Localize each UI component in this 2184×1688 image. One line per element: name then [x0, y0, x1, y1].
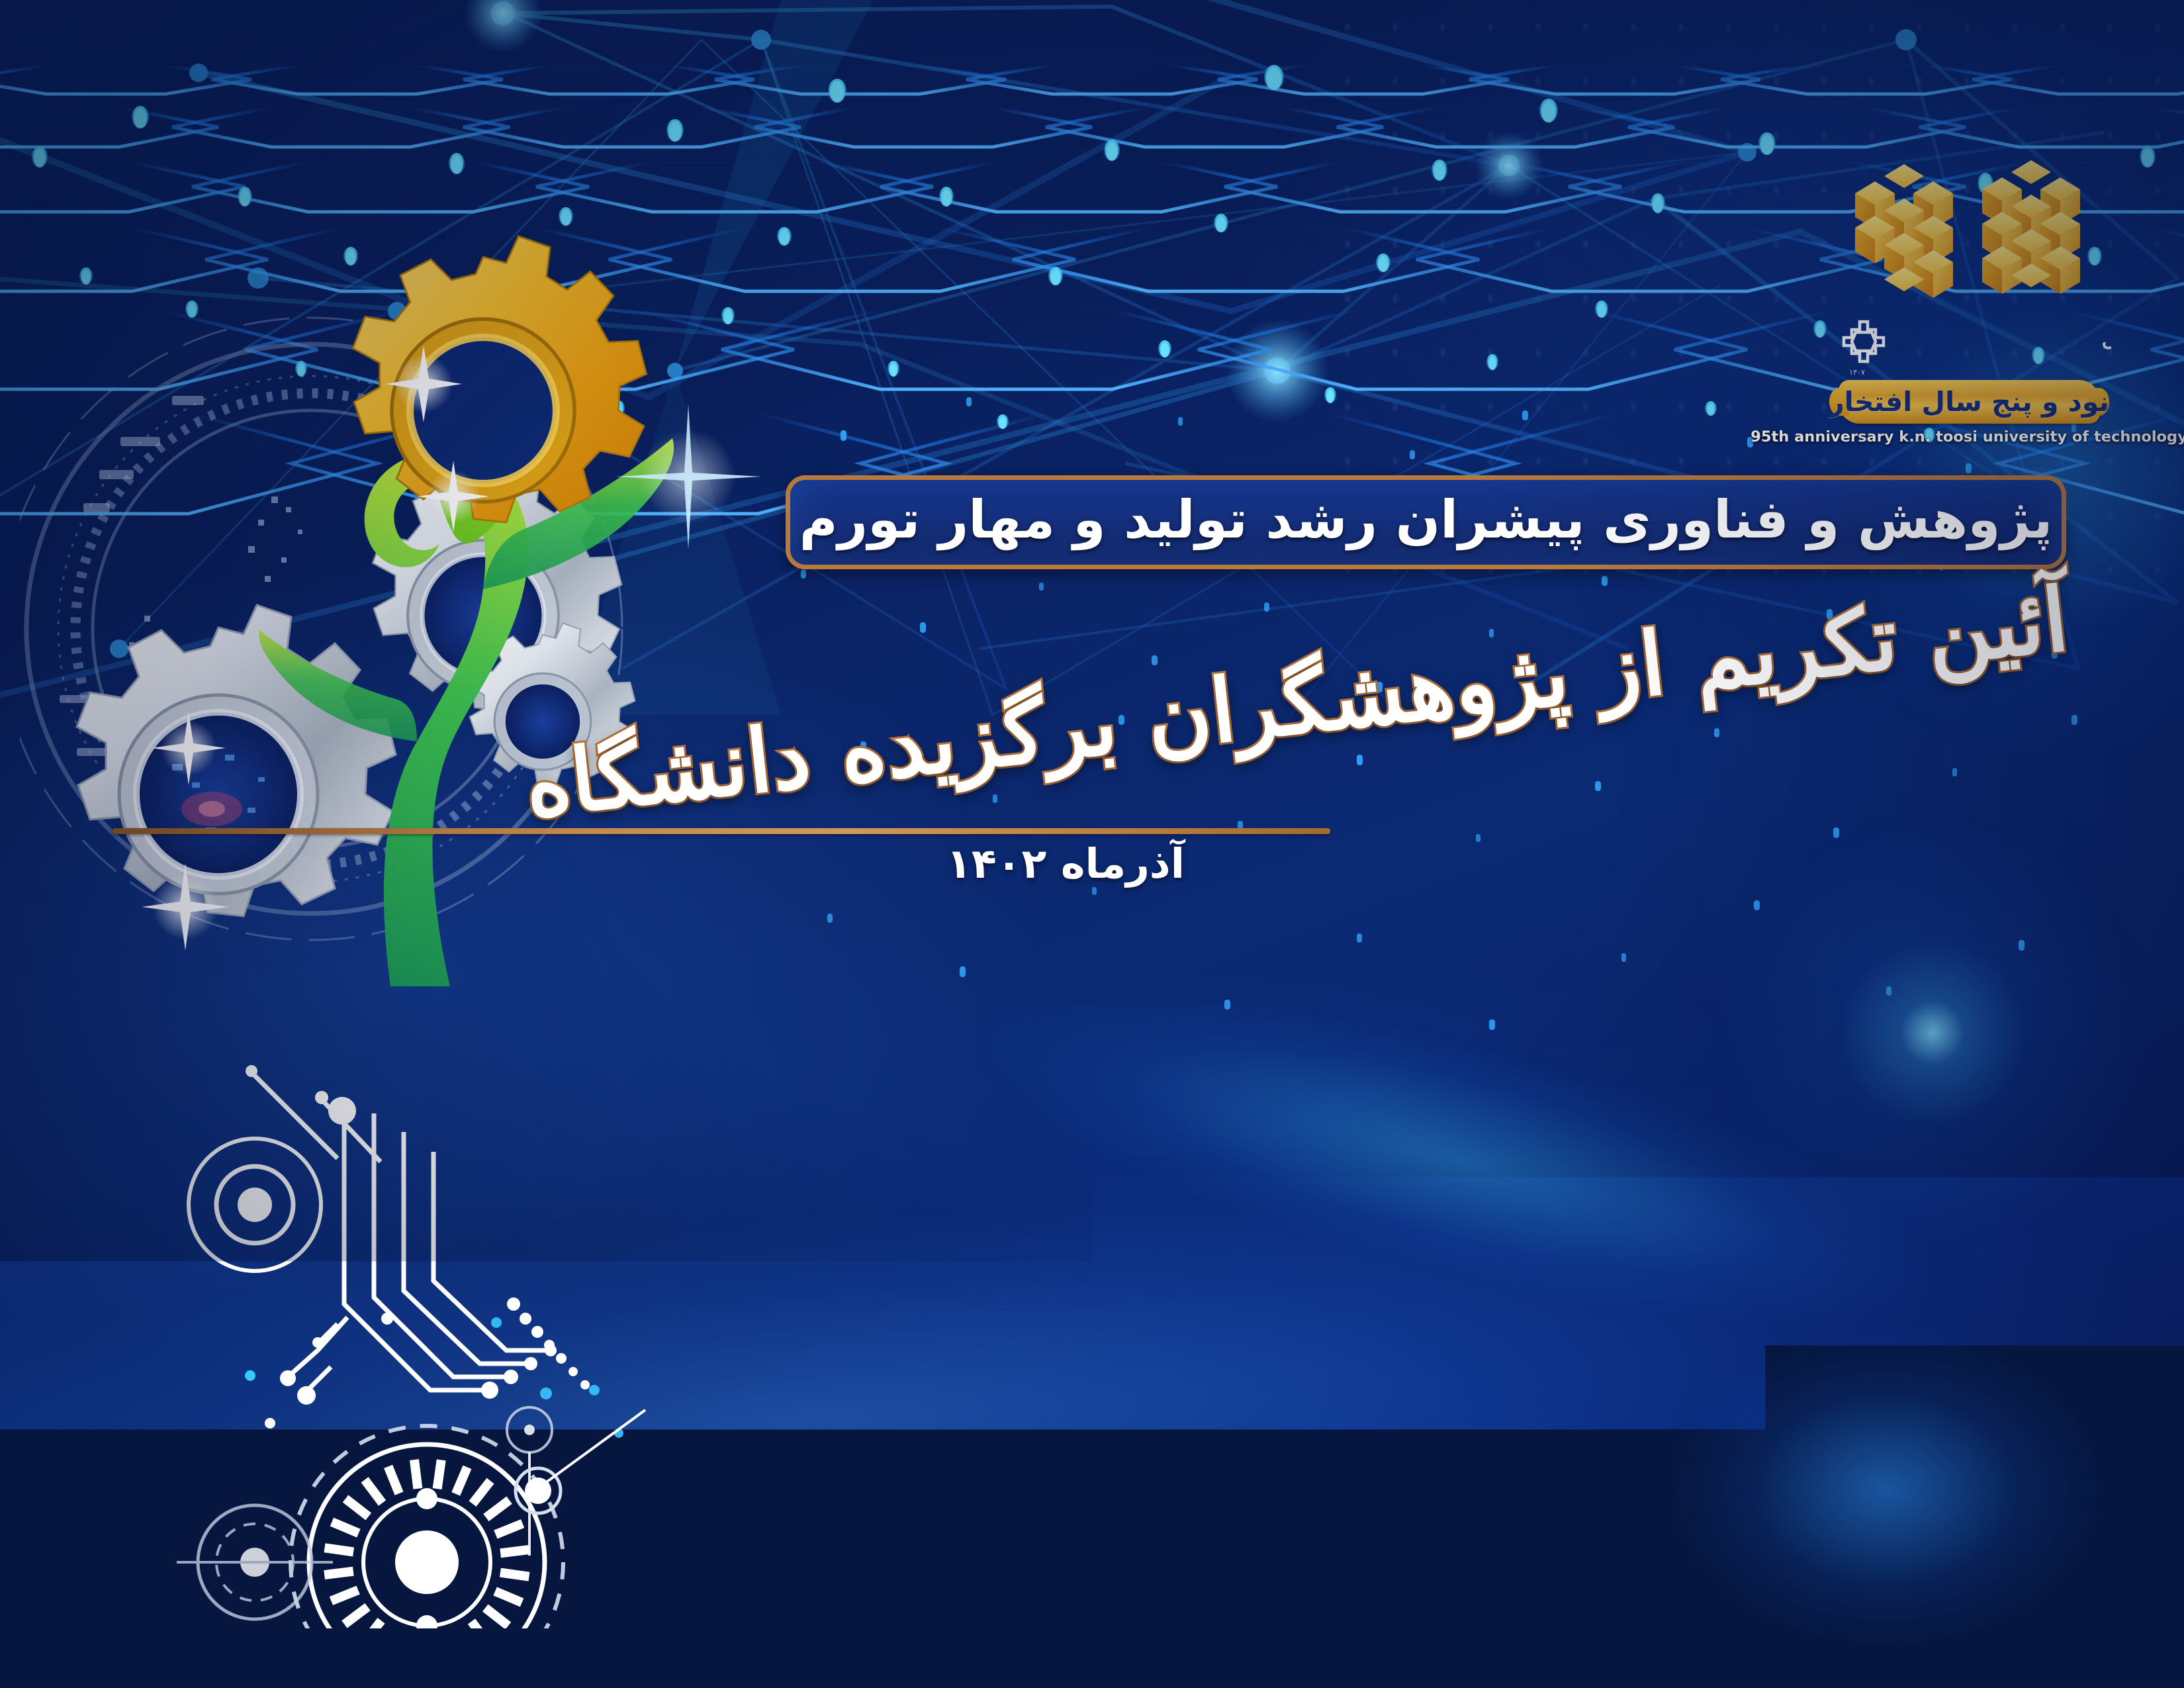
headline-banner: پژوهش و فناوری پیشران رشد تولید و مهار ت… [786, 475, 2066, 569]
founded-year: ۱۳۰۷ [1849, 369, 1865, 377]
divider-rule [113, 828, 1330, 834]
anniversary-95-cube-logo [1837, 158, 2101, 310]
subtitle-block: آئین تکریم از پژوهشگران برگزیده دانشگاه [715, 583, 2078, 801]
anniversary-label-en: 95th anniversary k.n. toosi university o… [1751, 428, 2184, 445]
left-lower-glow [1588, 1258, 2184, 1688]
university-name-mark: ۱۳۰۷ دانشگاه صنعتی خواجه نصیرالدین طوسی [1827, 306, 2111, 379]
anniversary-badge: نود و پنج سال افتخار [1839, 380, 2100, 424]
event-date: آذرماه ۱۴۰۲ [946, 839, 1185, 888]
university-name-text: دانشگاه صنعتی خواجه نصیرالدین طوسی [2099, 306, 2111, 353]
anniversary-label-fa: نود و پنج سال افتخار [1829, 386, 2109, 418]
event-poster: ۱۳۰۷ دانشگاه صنعتی خواجه نصیرالدین طوسی … [0, 0, 2184, 1688]
subtitle-text: آئین تکریم از پژوهشگران برگزیده دانشگاه [707, 568, 2073, 818]
light-sweep-secondary [670, 661, 2184, 1656]
headline-text: پژوهش و فناوری پیشران رشد تولید و مهار ت… [799, 494, 2053, 546]
gears-and-sprout-emblem [20, 218, 801, 1000]
left-lens-flare [1681, 781, 2184, 1284]
university-logo-block: ۱۳۰۷ دانشگاه صنعتی خواجه نصیرالدین طوسی … [1827, 158, 2111, 449]
knt-star-emblem: ۱۳۰۷ [1844, 322, 1884, 377]
circuit-trace-graphic [119, 1033, 715, 1628]
